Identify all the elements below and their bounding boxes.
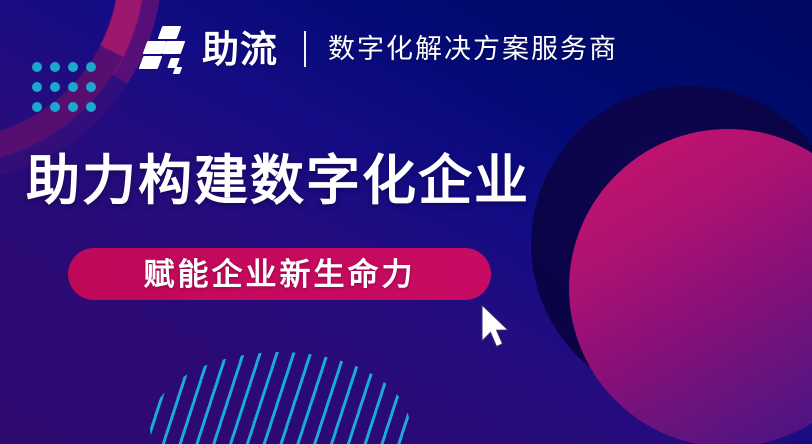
- page-title: 助力构建数字化企业: [26, 150, 530, 212]
- status-badge[interactable]: 赋能企业新生命力: [68, 248, 491, 300]
- brand-header: 助流 数字化解决方案服务商: [138, 20, 618, 78]
- dot-grid-pattern-icon: [32, 62, 104, 122]
- header-divider: [304, 31, 306, 67]
- lightning-bolt-logo-mark-icon: [138, 24, 192, 74]
- brand-name: 助流: [202, 31, 278, 68]
- promotional-banner: 助流 数字化解决方案服务商 助力构建数字化企业 赋能企业新生命力: [0, 0, 812, 444]
- diagonal-line-burst-icon: [150, 352, 410, 444]
- mouse-pointer-arrow-icon: [478, 303, 514, 349]
- status-badge-label: 赋能企业新生命力: [144, 259, 416, 290]
- brand-tagline: 数字化解决方案服务商: [328, 36, 618, 63]
